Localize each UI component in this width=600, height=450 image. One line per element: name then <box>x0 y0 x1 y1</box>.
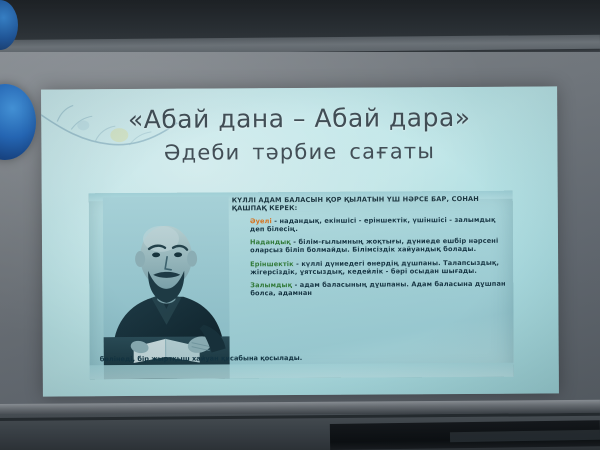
poster-paragraph-4: Залымдық - адам баласының дұшпаны. Адам … <box>250 280 508 298</box>
poster-paragraph-1: Әуелі - надандық, екіншісі - еріншектік,… <box>250 216 508 234</box>
poster-paragraph-1-lead: Әуелі <box>250 217 272 225</box>
poster-text-column: КҮЛЛІ АДАМ БАЛАСЫН ҚОР ҚЫЛАТЫН ҮШ НӘРСЕ … <box>232 195 509 303</box>
classroom-photo-scene: «Абай дана – Абай дара» Әдеби тәрбие сағ… <box>0 0 600 450</box>
poster-last-line-2: бөлінеді, бір жыртқыш хайуан қисабына қо… <box>100 353 510 364</box>
abai-poster-image: КҮЛЛІ АДАМ БАЛАСЫН ҚОР ҚЫЛАТЫН ҮШ НӘРСЕ … <box>89 191 514 380</box>
slide-title: «Абай дана – Абай дара» <box>41 102 557 134</box>
projected-slide: «Абай дана – Абай дара» Әдеби тәрбие сағ… <box>41 86 559 396</box>
poster-paragraph-4-body: - адам баласының дұшпаны. <box>292 280 409 289</box>
poster-paragraph-3-lead: Еріншектік <box>250 260 294 268</box>
poster-bottom-band <box>90 363 514 380</box>
slide-subtitle: Әдеби тәрбие сағаты <box>41 138 557 165</box>
poster-paragraph-3: Еріншектік - күллі дүниедегі өнердің дұш… <box>250 258 508 276</box>
poster-paragraph-1-body: - надандық, екіншісі - еріншектік, үшінш… <box>250 216 496 234</box>
abai-portrait-illustration <box>103 196 230 379</box>
poster-heading: КҮЛЛІ АДАМ БАЛАСЫН ҚОР ҚЫЛАТЫН ҮШ НӘРСЕ … <box>232 195 508 213</box>
poster-paragraph-2: Надандық - білім-ғылымның жоқтығы, дүние… <box>250 237 508 255</box>
